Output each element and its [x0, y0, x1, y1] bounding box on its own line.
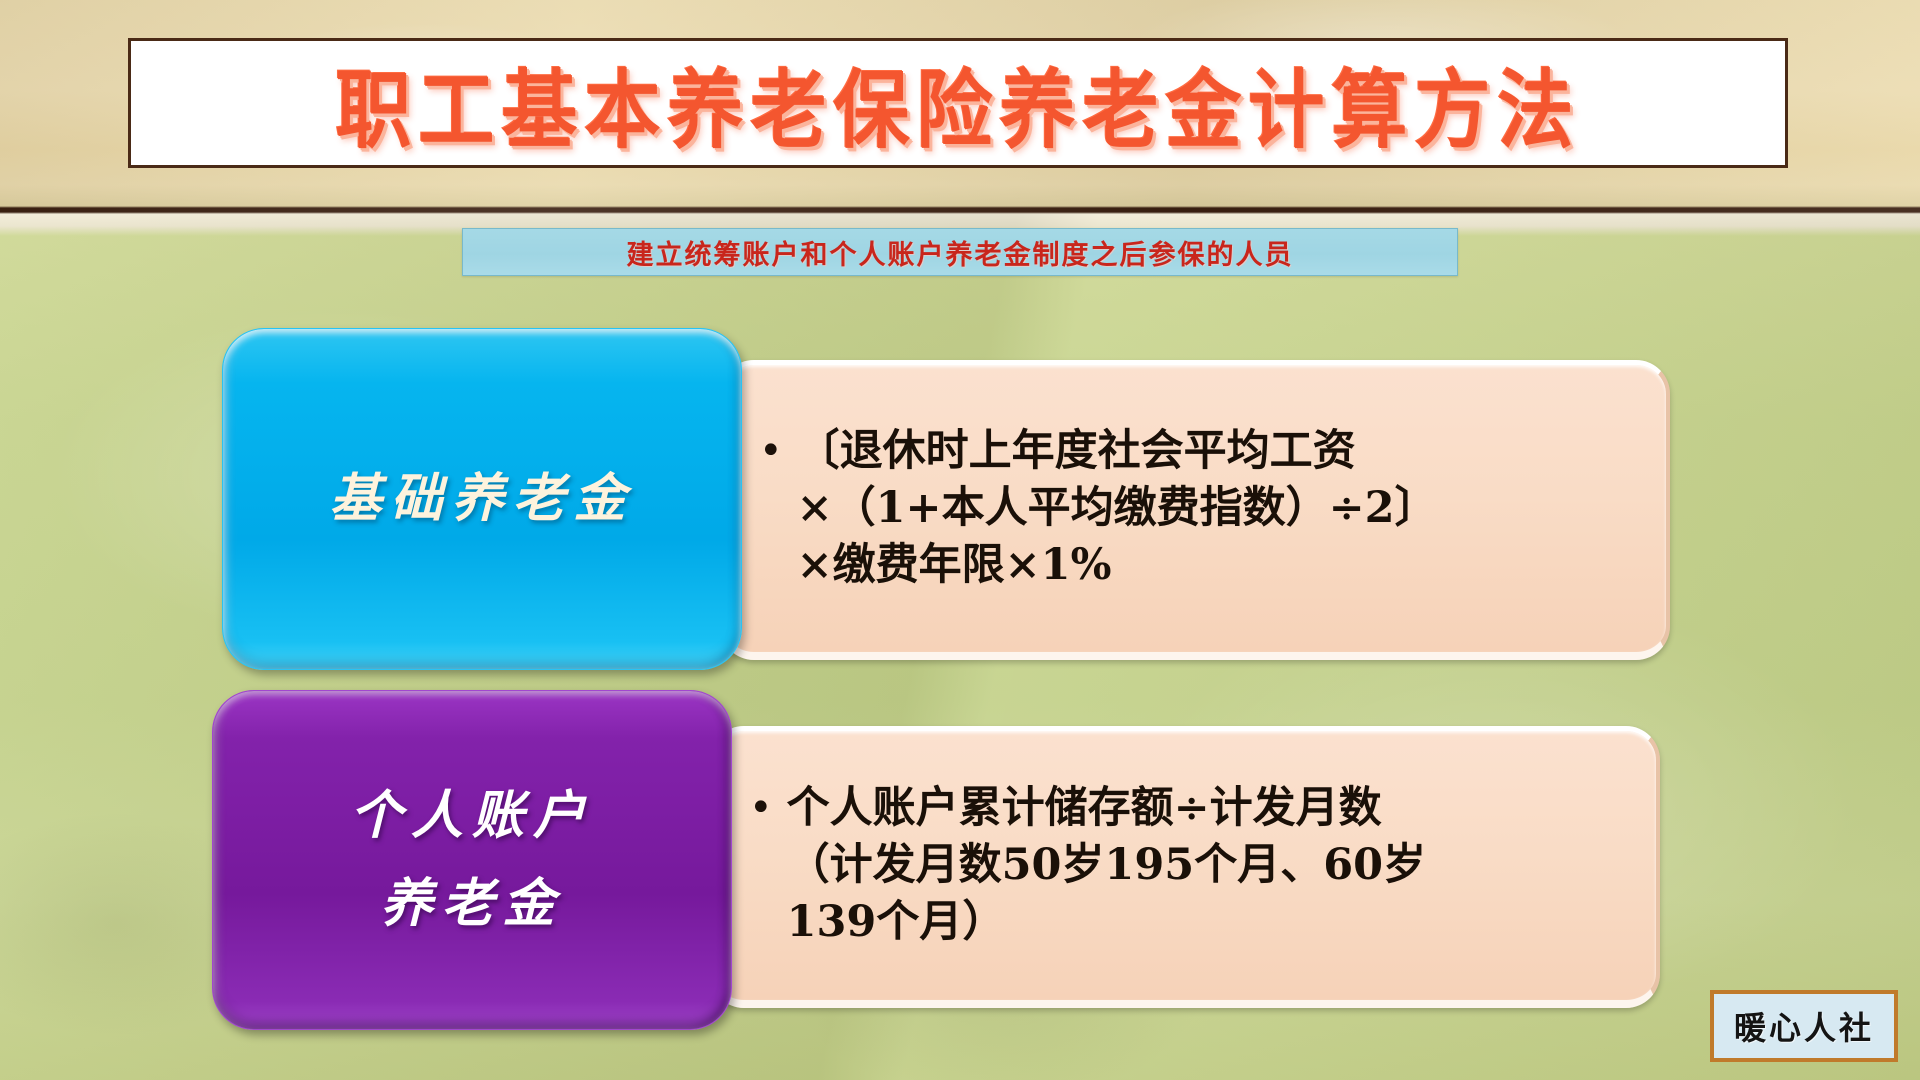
- chip-basic-pension[interactable]: 基础养老金: [222, 328, 742, 670]
- content-row-basic-pension: 基础养老金 • 〔退休时上年度社会平均工资 ×（1+本人平均缴费指数）÷2〕 ×…: [222, 328, 1670, 670]
- chip-personal-account-pension[interactable]: 个人账户 养老金: [212, 690, 732, 1030]
- formula-line: ×（1+本人平均缴费指数）÷2〕: [797, 480, 1438, 537]
- formula-line: 个人账户累计储存额÷计发月数: [787, 780, 1426, 837]
- watermark-logo-text: 暖心人社: [1734, 1003, 1874, 1049]
- bullet-row: • 个人账户累计储存额÷计发月数 （计发月数50岁195个月、60岁 139个月…: [749, 780, 1630, 950]
- content-row-personal-account-pension: 个人账户 养老金 • 个人账户累计储存额÷计发月数 （计发月数50岁195个月、…: [212, 690, 1660, 1030]
- chip-personal-account-pension-label-1: 个人账户: [350, 781, 594, 851]
- formula-line: 139个月）: [787, 894, 1426, 951]
- bullet-icon: •: [759, 423, 783, 479]
- formula-basic-pension: 〔退休时上年度社会平均工资 ×（1+本人平均缴费指数）÷2〕 ×缴费年限×1%: [797, 423, 1438, 593]
- chip-basic-pension-label: 基础养老金: [329, 464, 634, 534]
- page-title: 职工基本养老保险养老金计算方法: [336, 41, 1581, 164]
- formula-line: ×缴费年限×1%: [797, 537, 1438, 594]
- formula-personal-account-pension: 个人账户累计储存额÷计发月数 （计发月数50岁195个月、60岁 139个月）: [787, 780, 1426, 950]
- formula-panel-personal-account-pension: • 个人账户累计储存额÷计发月数 （计发月数50岁195个月、60岁 139个月…: [710, 726, 1660, 1008]
- title-plate: 职工基本养老保险养老金计算方法: [128, 38, 1788, 168]
- bullet-icon: •: [749, 780, 773, 836]
- subtitle-banner: 建立统筹账户和个人账户养老金制度之后参保的人员: [462, 228, 1458, 276]
- formula-line: 〔退休时上年度社会平均工资: [797, 423, 1438, 480]
- subtitle-text: 建立统筹账户和个人账户养老金制度之后参保的人员: [627, 233, 1294, 272]
- formula-line: （计发月数50岁195个月、60岁: [787, 837, 1426, 894]
- chip-personal-account-pension-label-2: 养老金: [380, 869, 563, 939]
- watermark-logo: 暖心人社: [1710, 990, 1898, 1062]
- slide-root: 职工基本养老保险养老金计算方法 建立统筹账户和个人账户养老金制度之后参保的人员 …: [0, 0, 1920, 1080]
- formula-panel-basic-pension: • 〔退休时上年度社会平均工资 ×（1+本人平均缴费指数）÷2〕 ×缴费年限×1…: [720, 360, 1670, 660]
- bullet-row: • 〔退休时上年度社会平均工资 ×（1+本人平均缴费指数）÷2〕 ×缴费年限×1…: [759, 423, 1640, 593]
